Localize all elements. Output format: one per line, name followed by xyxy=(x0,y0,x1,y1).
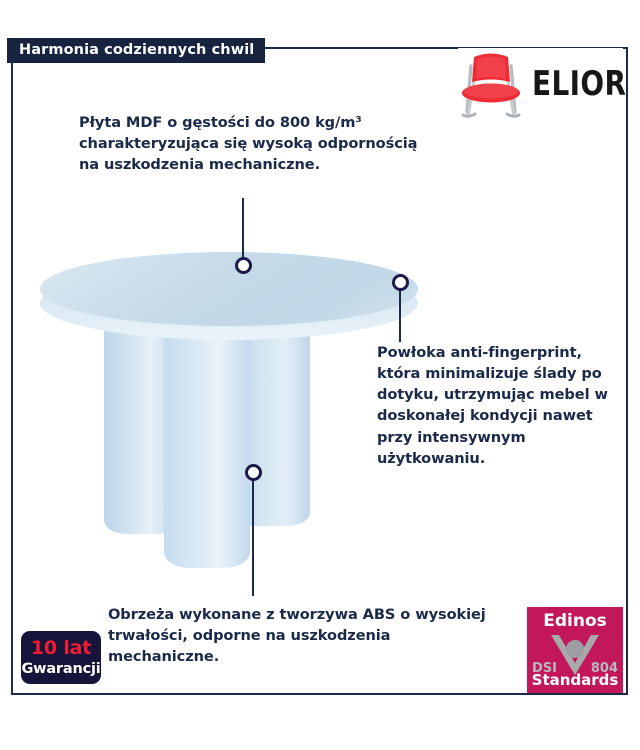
leader-line-mdf xyxy=(242,198,244,260)
table-leg-center xyxy=(164,306,250,568)
header-banner: Harmonia codziennych chwil xyxy=(7,38,265,63)
page-title: Harmonia codziennych chwil xyxy=(19,43,254,58)
leader-line-coating xyxy=(399,288,401,342)
edinos-title: Edinos xyxy=(527,613,623,630)
infographic-page: Harmonia codziennych chwil ELIOR xyxy=(0,0,640,750)
marker-dot-abs[interactable] xyxy=(245,464,262,481)
callout-text-abs: Obrzeża wykonane z tworzywa ABS o wysoki… xyxy=(108,604,488,667)
warranty-years: 10 lat xyxy=(31,639,91,658)
marker-dot-mdf[interactable] xyxy=(235,257,252,274)
edinos-standards-badge: Edinos DSI 804 Standards xyxy=(527,607,623,693)
callout-text-mdf: Płyta MDF o gęstości do 800 kg/m³ charak… xyxy=(79,112,439,175)
round-table-illustration xyxy=(28,230,430,570)
brand-name: ELIOR xyxy=(532,67,626,101)
tabletop-surface xyxy=(40,252,418,326)
brand-logo: ELIOR xyxy=(458,48,623,120)
callout-text-coating: Powłoka anti-fingerprint, która minimali… xyxy=(377,342,625,469)
warranty-label: Gwarancji xyxy=(21,662,100,677)
edinos-subtitle: Standards xyxy=(527,673,623,688)
marker-dot-coating[interactable] xyxy=(392,274,409,291)
red-chair-icon xyxy=(458,48,524,120)
warranty-badge: 10 lat Gwarancji xyxy=(21,631,101,684)
leader-line-abs xyxy=(252,478,254,596)
